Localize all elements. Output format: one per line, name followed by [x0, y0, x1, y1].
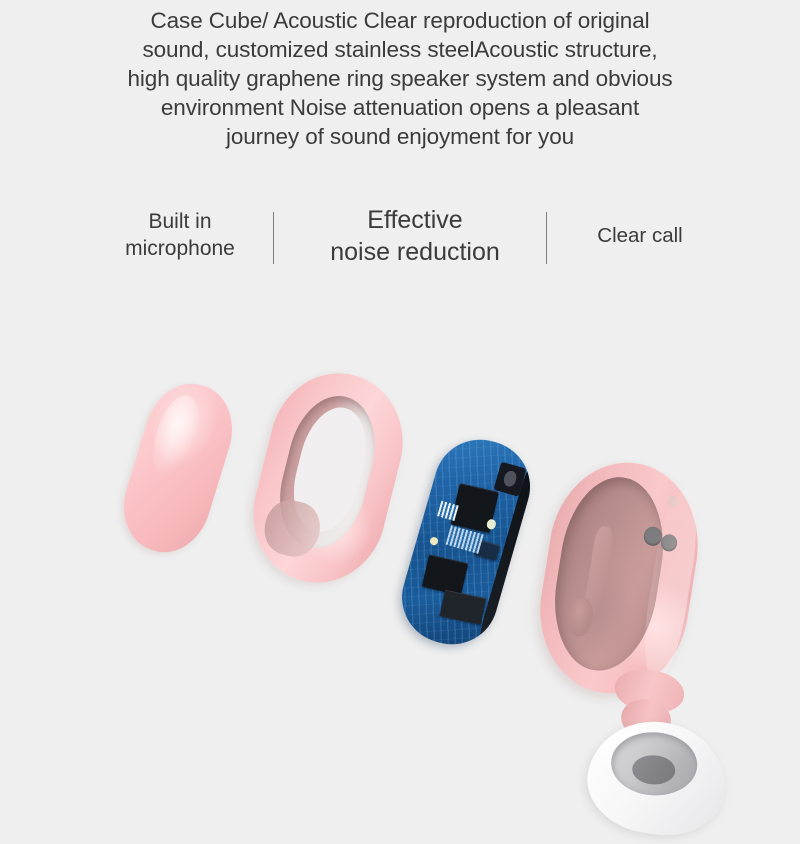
part-ring-frame — [238, 359, 417, 597]
part-ear-tip — [580, 712, 734, 844]
pcb-substrate — [391, 429, 541, 655]
feature-effective-noise-reduction: Effective noise reduction — [300, 204, 530, 268]
pcb-chip-connector — [440, 590, 487, 625]
feature-built-in-microphone: Built in microphone — [95, 209, 265, 263]
exploded-view-earbud-illustration — [0, 330, 800, 800]
feature-divider-1 — [273, 212, 274, 264]
feature-divider-2 — [546, 212, 547, 264]
feature-clear-call: Clear call — [560, 223, 720, 249]
feature-strip: Built in microphone Effective noise redu… — [0, 200, 800, 290]
headline-paragraph: Case Cube/ Acoustic Clear reproduction o… — [60, 6, 740, 151]
pcb-solder-point-2 — [429, 536, 439, 546]
part-circuit-board — [391, 429, 541, 655]
shell-internal-boss — [567, 596, 595, 638]
part-oval-cap — [112, 373, 245, 563]
